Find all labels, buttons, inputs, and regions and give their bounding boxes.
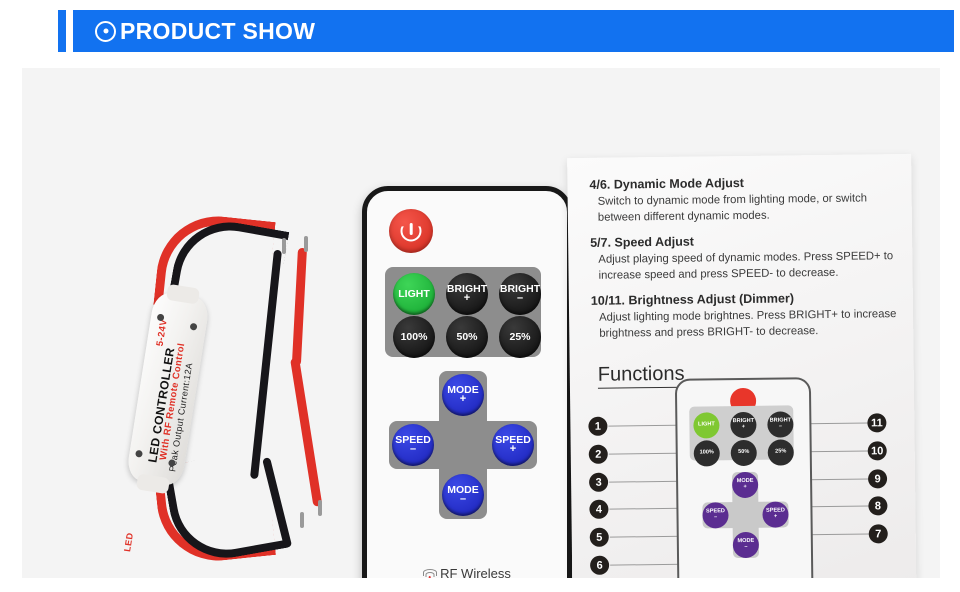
- manual-heading: 4/6. Dynamic Mode Adjust: [589, 174, 897, 192]
- callout-2: 2: [589, 445, 608, 464]
- leader-line: [609, 481, 681, 483]
- callout-1: 1: [588, 417, 607, 436]
- callout-10: 10: [868, 441, 887, 460]
- terminal-mark: [190, 323, 198, 331]
- wire-tip: [318, 500, 322, 516]
- wire-tip: [282, 238, 286, 254]
- controller-input-label: 5-24V: [155, 318, 170, 347]
- manual-body: Switch to dynamic mode from lighting mod…: [598, 190, 898, 226]
- diagram-key-speed-up: SPEED +: [762, 501, 788, 527]
- red-lead-lower: [290, 357, 322, 507]
- led-controller-module: 5-24V LED CONTROLLER With RF Remote Cont…: [122, 208, 357, 558]
- diagram-key-100: 100%: [694, 440, 720, 466]
- product-photo: 5-24V LED CONTROLLER With RF Remote Cont…: [22, 68, 940, 578]
- key-bright-down[interactable]: BRIGHT –: [499, 273, 541, 315]
- wifi-icon: [423, 569, 436, 578]
- callout-6: 6: [590, 556, 609, 575]
- manual-body: Adjust lighting mode brightnes. Press BR…: [599, 306, 899, 342]
- terminal-mark: [135, 450, 143, 458]
- leader-line: [806, 422, 868, 424]
- rf-remote[interactable]: LIGHT BRIGHT + BRIGHT – 100% 50% 25%: [362, 186, 572, 578]
- key-speed-down[interactable]: SPEED –: [392, 424, 434, 466]
- remote-footer: RF Wireless: [367, 566, 567, 578]
- callout-7: 7: [869, 524, 888, 543]
- key-100-percent[interactable]: 100%: [393, 316, 435, 358]
- diagram-key-bright-down: BRIGHT –: [767, 411, 793, 437]
- header-bar: PRODUCT SHOW: [73, 10, 954, 52]
- product-show-page: PRODUCT SHOW 5-24V LED CONTROLLER With R…: [0, 0, 960, 592]
- key-speed-up[interactable]: SPEED +: [492, 424, 534, 466]
- manual-body: Adjust playing speed of dynamic modes. P…: [598, 248, 898, 284]
- diagram-dpad: MODE + SPEED – SPEED + MODE –: [702, 471, 789, 558]
- key-light[interactable]: LIGHT: [393, 273, 435, 315]
- callout-3: 3: [589, 473, 608, 492]
- diagram-key-50: 50%: [731, 440, 757, 466]
- wire-tip: [300, 512, 304, 528]
- callout-11: 11: [867, 413, 886, 432]
- dpad: MODE + SPEED – SPEED + MODE –: [389, 371, 537, 519]
- manual-heading: 10/11. Brightness Adjust (Dimmer): [591, 290, 899, 308]
- wire-tip: [304, 236, 308, 252]
- key-mode-down[interactable]: MODE –: [442, 474, 484, 516]
- power-button[interactable]: [389, 209, 433, 253]
- red-lead-upper: [292, 248, 307, 366]
- key-bright-up[interactable]: BRIGHT +: [446, 273, 488, 315]
- callout-5: 5: [590, 528, 609, 547]
- diagram-key-speed-down: SPEED –: [702, 502, 728, 528]
- page-title: PRODUCT SHOW: [120, 18, 315, 45]
- power-icon-stem: [410, 223, 413, 235]
- key-50-percent[interactable]: 50%: [446, 316, 488, 358]
- diagram-key-mode-up: MODE +: [732, 472, 758, 498]
- diagram-key-mode-down: MODE –: [733, 532, 759, 558]
- circle-dot-icon: [95, 21, 116, 42]
- key-25-percent[interactable]: 25%: [499, 316, 541, 358]
- controller-body: 5-24V LED CONTROLLER With RF Remote Cont…: [125, 291, 210, 487]
- callout-4: 4: [589, 500, 608, 519]
- section-header: PRODUCT SHOW: [58, 10, 954, 52]
- functions-heading: Functions: [598, 363, 685, 389]
- key-mode-up[interactable]: MODE +: [442, 374, 484, 416]
- instruction-sheet: 4/6. Dynamic Mode Adjust Switch to dynam…: [567, 154, 917, 578]
- callout-8: 8: [868, 496, 887, 515]
- diagram-remote: LIGHT BRIGHT + BRIGHT – 100% 50% 25%: [675, 377, 814, 578]
- callout-9: 9: [868, 469, 887, 488]
- controller-output-label: LED: [122, 532, 135, 553]
- leader-line: [609, 453, 677, 455]
- header-accent-tick: [58, 10, 66, 52]
- diagram-key-25: 25%: [768, 439, 794, 465]
- manual-heading: 5/7. Speed Adjust: [590, 232, 898, 250]
